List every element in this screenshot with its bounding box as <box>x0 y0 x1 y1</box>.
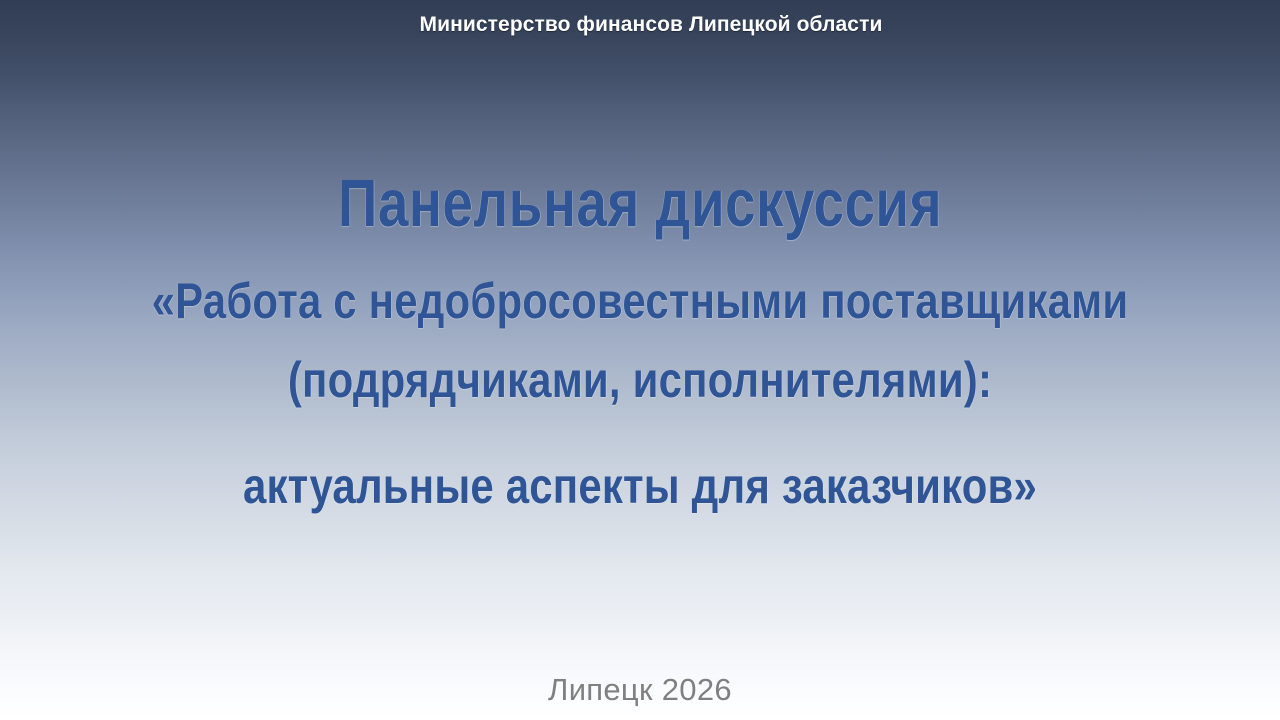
subtitle-line-1: «Работа с недобросовестными поставщиками <box>102 262 1177 341</box>
subtitle-line-2: (подрядчиками, исполнителями): <box>102 341 1177 420</box>
slide-header: Министерство финансов Липецкой области <box>0 0 1280 56</box>
place-and-year: Липецк 2026 <box>548 672 732 708</box>
subtitle-line-3: актуальные аспекты для заказчиков» <box>102 447 1177 526</box>
page-title: Панельная дискуссия <box>115 165 1165 243</box>
presentation-title-slide: Министерство финансов Липецкой области П… <box>0 0 1280 720</box>
subtitle-group: «Работа с недобросовестными поставщиками… <box>0 262 1280 526</box>
organization-name: Министерство финансов Липецкой области <box>419 13 882 37</box>
title-group: Панельная дискуссия <box>0 165 1280 243</box>
slide-footer: Липецк 2026 <box>0 672 1280 708</box>
